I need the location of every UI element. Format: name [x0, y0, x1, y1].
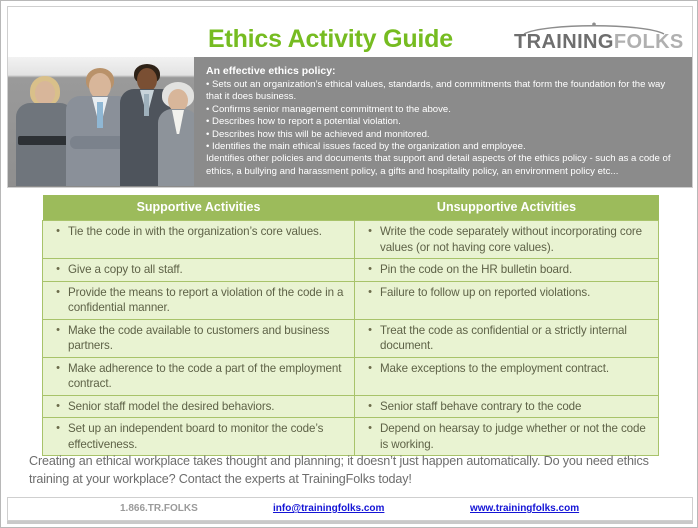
logo-wordmark: TRAININGFOLKS [514, 31, 674, 54]
bullet-icon: • [48, 421, 68, 436]
cell-supportive: • Set up an independent board to monitor… [43, 418, 355, 456]
cell-text: Depend on hearsay to judge whether or no… [380, 421, 652, 452]
table-row: • Set up an independent board to monitor… [43, 418, 659, 456]
table-row: • Provide the means to report a violatio… [43, 281, 659, 319]
cell-unsupportive: • Write the code separately without inco… [355, 221, 659, 259]
cell-text: Tie the code in with the organization’s … [68, 224, 348, 240]
header-band: Ethics Activity Guide TRAININGFOLKS [7, 6, 693, 57]
footer-website-link[interactable]: www.trainingfolks.com [470, 503, 579, 514]
policy-line: • Describes how this will be achieved an… [206, 129, 680, 141]
photo-person-4 [158, 78, 194, 186]
cell-unsupportive: • Make exceptions to the employment cont… [355, 357, 659, 395]
logo-word-training: TRAINING [514, 31, 614, 53]
bullet-icon: • [360, 224, 380, 239]
cell-supportive: • Provide the means to report a violatio… [43, 281, 355, 319]
policy-line: Identifies other policies and documents … [206, 153, 680, 178]
cell-supportive: • Give a copy to all staff. [43, 259, 355, 282]
table-row: • Senior staff model the desired behavio… [43, 395, 659, 418]
cell-unsupportive: • Treat the code as confidential or a st… [355, 319, 659, 357]
bullet-icon: • [360, 285, 380, 300]
cell-unsupportive: • Pin the code on the HR bulletin board. [355, 259, 659, 282]
cell-text: Senior staff behave contrary to the code [380, 399, 652, 415]
bullet-icon: • [48, 285, 68, 300]
document-page: Ethics Activity Guide TRAININGFOLKS [0, 0, 698, 528]
cell-text: Make exceptions to the employment contra… [380, 361, 652, 377]
trainingfolks-logo: TRAININGFOLKS [514, 21, 674, 57]
table-header-row: Supportive Activities Unsupportive Activ… [43, 195, 659, 221]
bullet-icon: • [48, 262, 68, 277]
closing-paragraph: Creating an ethical workplace takes thou… [29, 453, 677, 488]
cell-unsupportive: • Senior staff behave contrary to the co… [355, 395, 659, 418]
column-header-unsupportive: Unsupportive Activities [355, 195, 659, 221]
bullet-icon: • [48, 361, 68, 376]
bullet-icon: • [360, 323, 380, 338]
policy-panel: An effective ethics policy: • Sets out a… [194, 57, 692, 187]
cell-supportive: • Tie the code in with the organization’… [43, 221, 355, 259]
column-header-supportive: Supportive Activities [43, 195, 355, 221]
activities-table: Supportive Activities Unsupportive Activ… [42, 195, 659, 456]
logo-word-folks: FOLKS [614, 31, 684, 53]
cell-text: Senior staff model the desired behaviors… [68, 399, 348, 415]
cell-text: Failure to follow up on reported violati… [380, 285, 652, 301]
bullet-icon: • [48, 323, 68, 338]
cell-supportive: • Senior staff model the desired behavio… [43, 395, 355, 418]
cell-text: Pin the code on the HR bulletin board. [380, 262, 652, 278]
cell-supportive: • Make the code available to customers a… [43, 319, 355, 357]
page-title: Ethics Activity Guide [208, 25, 488, 54]
cell-unsupportive: • Depend on hearsay to judge whether or … [355, 418, 659, 456]
cell-text: Make adherence to the code a part of the… [68, 361, 348, 392]
cell-text: Treat the code as confidential or a stri… [380, 323, 652, 354]
bullet-icon: • [360, 421, 380, 436]
cell-text: Set up an independent board to monitor t… [68, 421, 348, 452]
bullet-icon: • [360, 399, 380, 414]
cell-unsupportive: • Failure to follow up on reported viola… [355, 281, 659, 319]
policy-heading: An effective ethics policy: [206, 65, 680, 78]
bullet-icon: • [360, 262, 380, 277]
table-row: • Make the code available to customers a… [43, 319, 659, 357]
team-photo [8, 57, 194, 186]
footer-shadow [7, 521, 693, 524]
cell-text: Provide the means to report a violation … [68, 285, 348, 316]
policy-line: • Describes how to report a potential vi… [206, 116, 680, 128]
table-row: • Make adherence to the code a part of t… [43, 357, 659, 395]
cell-supportive: • Make adherence to the code a part of t… [43, 357, 355, 395]
bullet-icon: • [48, 399, 68, 414]
policy-line: • Sets out an organization’s ethical val… [206, 79, 680, 104]
footer-phone: 1.866.TR.FOLKS [120, 503, 198, 514]
cell-text: Write the code separately without incorp… [380, 224, 652, 255]
cell-text: Give a copy to all staff. [68, 262, 348, 278]
footer-bar: 1.866.TR.FOLKS info@trainingfolks.com ww… [7, 497, 693, 521]
footer-email-link[interactable]: info@trainingfolks.com [273, 503, 384, 514]
table-row: • Give a copy to all staff. • Pin the co… [43, 259, 659, 282]
policy-line: • Confirms senior management commitment … [206, 104, 680, 116]
table-row: • Tie the code in with the organization’… [43, 221, 659, 259]
bullet-icon: • [48, 224, 68, 239]
hero-section: An effective ethics policy: • Sets out a… [7, 57, 693, 188]
cell-text: Make the code available to customers and… [68, 323, 348, 354]
bullet-icon: • [360, 361, 380, 376]
policy-line: • Identifies the main ethical issues fac… [206, 141, 680, 153]
